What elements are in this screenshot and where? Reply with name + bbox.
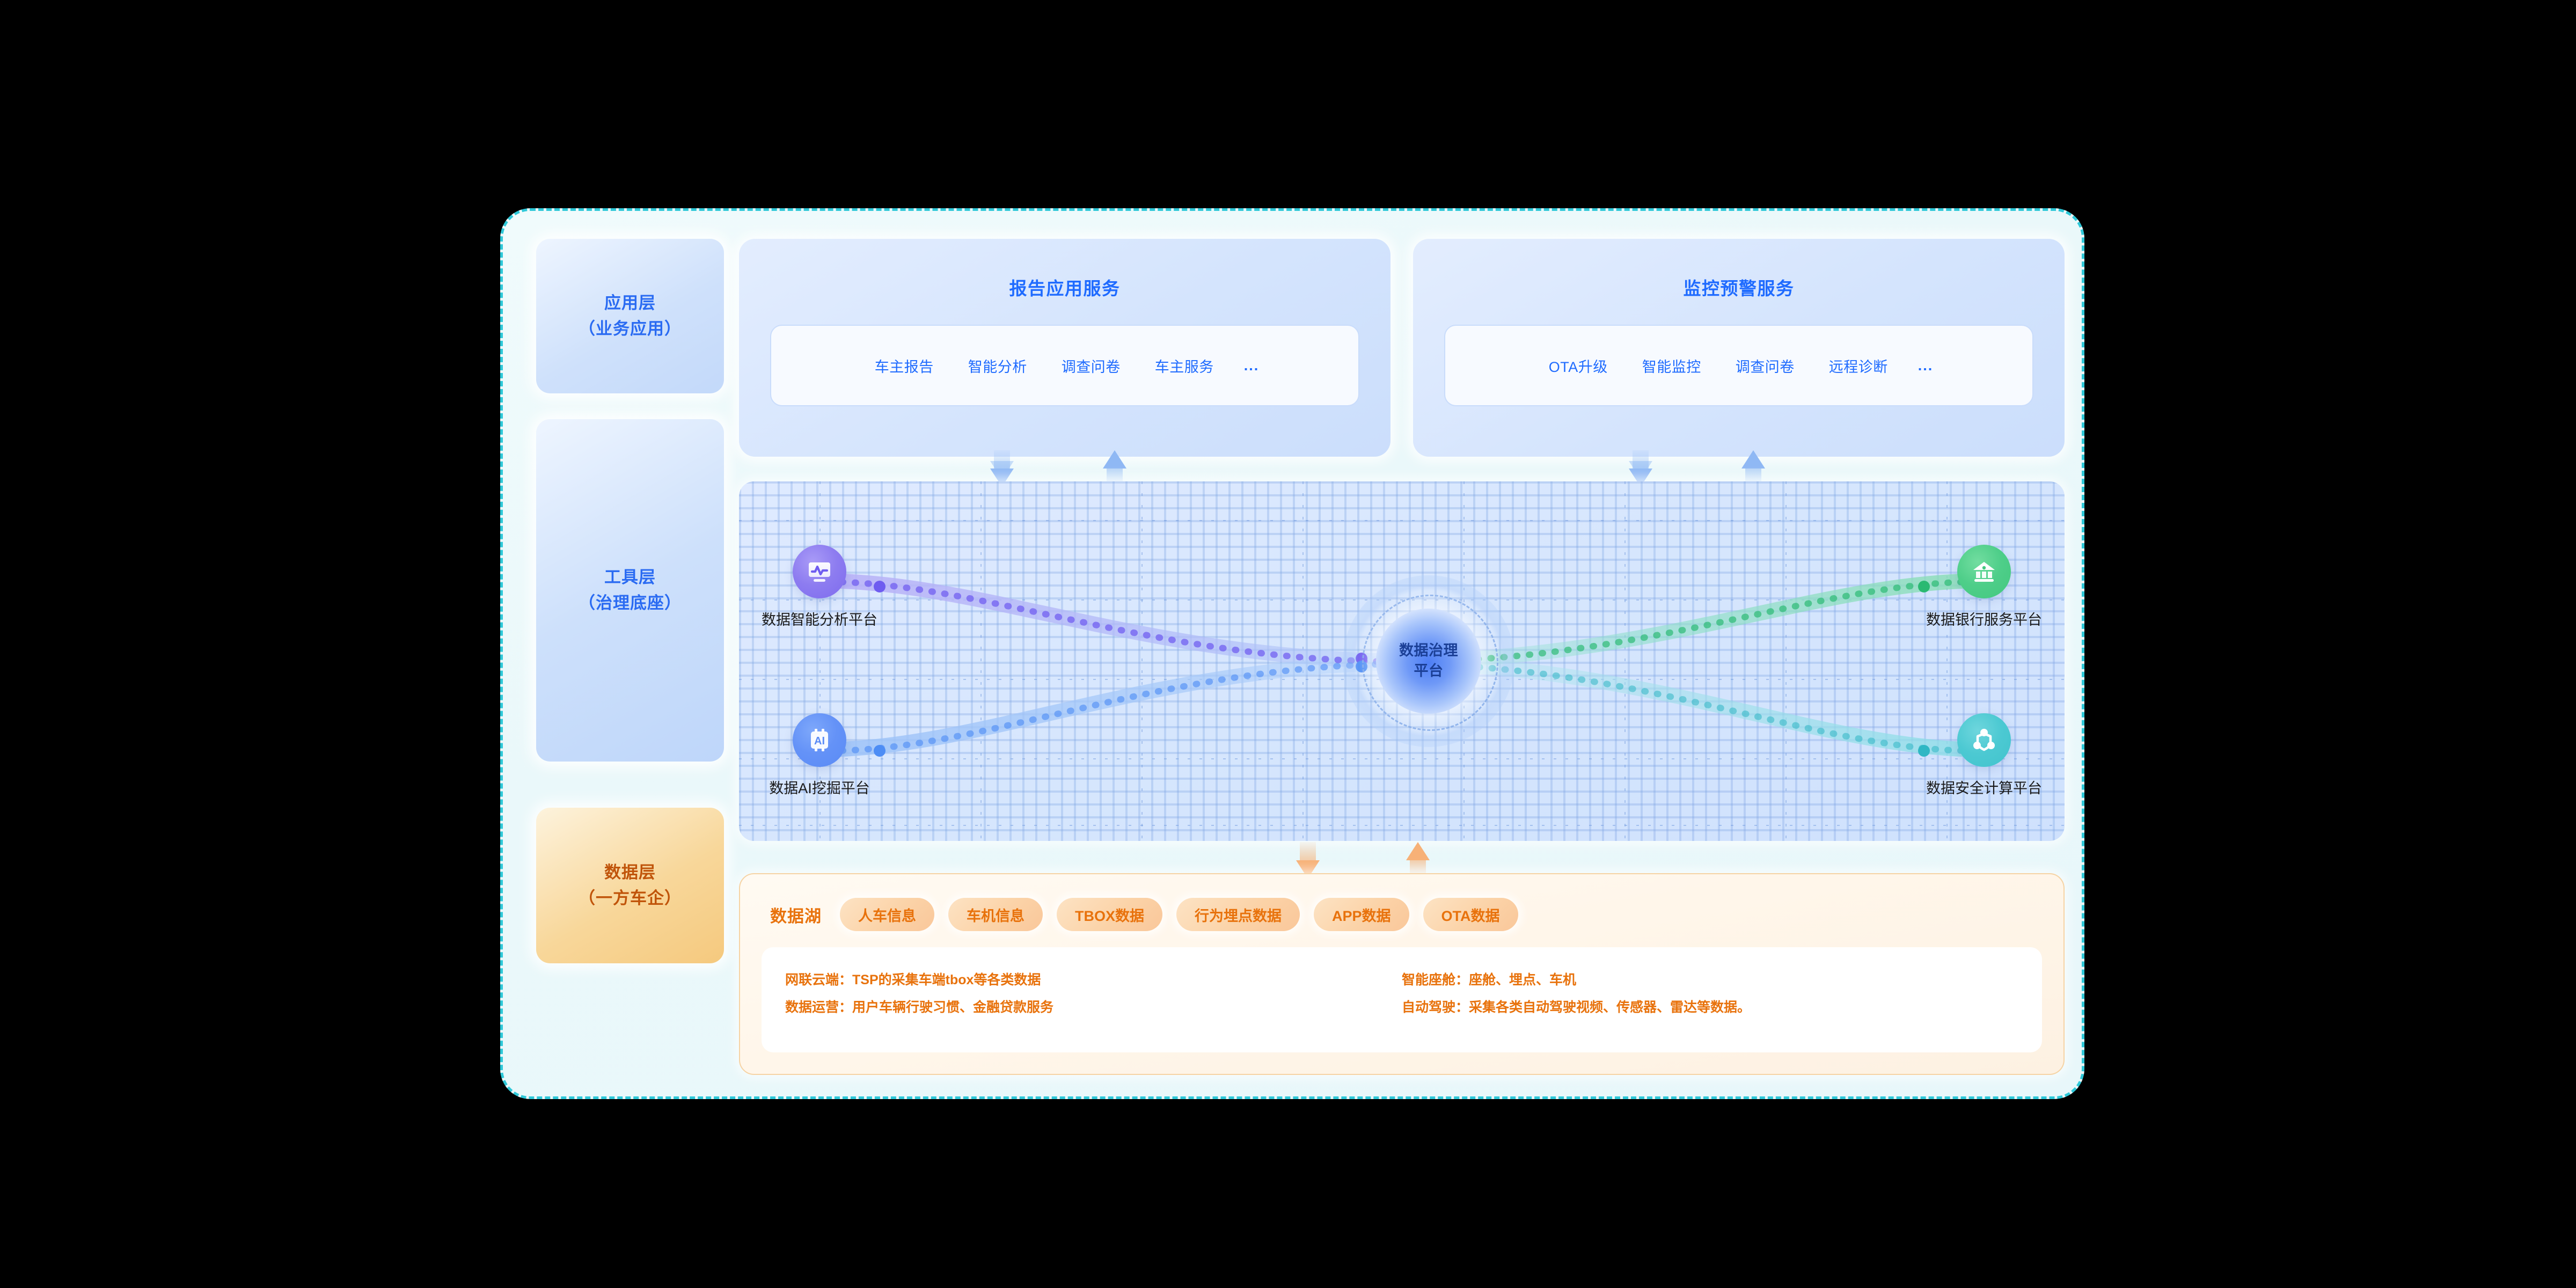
service-chip[interactable]: 智能分析: [951, 355, 1044, 376]
node-label: 数据安全计算平台: [1914, 777, 2054, 797]
service-chip[interactable]: 调查问卷: [1718, 355, 1812, 376]
layer-app-subtitle: （业务应用）: [579, 316, 682, 342]
application-services-row: 报告应用服务 车主报告 智能分析 调查问卷 车主服务 ... 监控预警服务 OT…: [739, 239, 2065, 457]
data-lake-description: 网联云端：TSP的采集车端tbox等各类数据 数据运营：用户车辆行驶习惯、金融贷…: [762, 947, 2042, 1052]
service-chip-more[interactable]: ...: [1231, 357, 1272, 374]
node-data-analysis-platform[interactable]: 数据智能分析平台: [750, 545, 889, 629]
data-lake-tag[interactable]: 车机信息: [948, 898, 1043, 931]
node-icon-wrapper: [793, 545, 846, 598]
layer-tool-subtitle: （治理底座）: [579, 590, 682, 616]
data-lake-tag[interactable]: OTA数据: [1423, 898, 1518, 931]
hub-label-line1: 数据治理: [1399, 642, 1458, 658]
layer-data-subtitle: （一方车企）: [579, 885, 682, 911]
node-label: 数据AI挖掘平台: [750, 777, 889, 797]
node-label: 数据银行服务平台: [1914, 608, 2054, 629]
hub-label-line2: 平台: [1414, 663, 1444, 679]
data-lake-right-column: 智能座舱：座舱、埋点、车机 自动驾驶：采集各类自动驾驶视频、传感器、雷达等数据。: [1402, 967, 2018, 1033]
data-lake-line: 智能座舱：座舱、埋点、车机: [1402, 967, 2018, 994]
diagram-content: 报告应用服务 车主报告 智能分析 调查问卷 车主服务 ... 监控预警服务 OT…: [739, 239, 2065, 1075]
monitor-wave-icon: [804, 557, 835, 587]
arrow-stem: [1633, 450, 1649, 469]
layer-card-application[interactable]: 应用层 （业务应用）: [536, 239, 724, 393]
data-lake-header: 数据湖 人车信息 车机信息 TBOX数据 行为埋点数据 APP数据 OTA数据: [770, 898, 1518, 931]
node-icon-wrapper: AI: [793, 713, 846, 767]
svg-text:AI: AI: [814, 735, 825, 747]
hub-core: 数据治理 平台: [1376, 609, 1481, 714]
arrow-stem: [994, 450, 1010, 469]
data-lake-tag[interactable]: 行为埋点数据: [1176, 898, 1300, 931]
service-chip[interactable]: 车主服务: [1138, 355, 1231, 376]
node-data-security-platform[interactable]: 数据安全计算平台: [1914, 713, 2054, 797]
data-lake-left-column: 网联云端：TSP的采集车端tbox等各类数据 数据运营：用户车辆行驶习惯、金融贷…: [785, 967, 1402, 1033]
data-governance-hub[interactable]: 数据治理 平台: [1343, 575, 1514, 747]
layer-tool-title: 工具层: [604, 565, 656, 590]
data-lake-line: 数据运营：用户车辆行驶习惯、金融贷款服务: [785, 994, 1402, 1021]
service-chip[interactable]: OTA升级: [1532, 355, 1625, 376]
data-lake-title: 数据湖: [770, 903, 822, 927]
data-lake-line: 网联云端：TSP的采集车端tbox等各类数据: [785, 967, 1402, 994]
service-card-monitoring-chipbar: OTA升级 智能监控 调查问卷 远程诊断 ...: [1444, 325, 2033, 406]
tool-layer-panel: 数据治理 平台: [739, 481, 2065, 841]
node-label: 数据智能分析平台: [750, 608, 889, 629]
layer-card-tool[interactable]: 工具层 （治理底座）: [536, 419, 724, 762]
arrow-up-icon: [1741, 450, 1765, 469]
service-chip[interactable]: 智能监控: [1625, 355, 1718, 376]
ai-chip-icon: AI: [804, 725, 835, 755]
layer-rail: 应用层 （业务应用） 工具层 （治理底座） 数据层 （一方车企）: [524, 239, 722, 1075]
diagram-stage: 应用层 （业务应用） 工具层 （治理底座） 数据层 （一方车企） 报告应用服务 …: [500, 208, 2084, 1099]
data-lake-line: 自动驾驶：采集各类自动驾驶视频、传感器、雷达等数据。: [1402, 994, 2018, 1021]
service-chip[interactable]: 远程诊断: [1812, 355, 1905, 376]
arrow-stem: [1300, 842, 1316, 860]
service-card-report[interactable]: 报告应用服务 车主报告 智能分析 调查问卷 车主服务 ...: [739, 239, 1391, 457]
layer-data-title: 数据层: [604, 860, 656, 885]
bank-building-icon: [1969, 557, 1999, 587]
layer-card-data[interactable]: 数据层 （一方车企）: [536, 808, 724, 963]
service-card-report-title: 报告应用服务: [1009, 274, 1121, 300]
node-data-bank-platform[interactable]: 数据银行服务平台: [1914, 545, 2054, 629]
data-lake-tag[interactable]: 人车信息: [840, 898, 934, 931]
arrow-up-icon: [1103, 450, 1126, 469]
hub-label: 数据治理 平台: [1399, 641, 1458, 682]
data-lake-tag[interactable]: APP数据: [1314, 898, 1409, 931]
node-data-ai-platform[interactable]: AI 数据AI挖掘平台: [750, 713, 889, 797]
data-lake-tag[interactable]: TBOX数据: [1057, 898, 1162, 931]
shield-network-icon: [1969, 725, 1999, 755]
node-icon-wrapper: [1957, 545, 2011, 598]
service-card-report-chipbar: 车主报告 智能分析 调查问卷 车主服务 ...: [770, 325, 1359, 406]
service-card-monitoring-title: 监控预警服务: [1684, 274, 1795, 300]
arrow-up-icon: [1406, 842, 1430, 860]
data-lake-section: 数据湖 人车信息 车机信息 TBOX数据 行为埋点数据 APP数据 OTA数据 …: [739, 873, 2065, 1075]
node-icon-wrapper: [1957, 713, 2011, 767]
service-card-monitoring[interactable]: 监控预警服务 OTA升级 智能监控 调查问卷 远程诊断 ...: [1413, 239, 2065, 457]
service-chip[interactable]: 调查问卷: [1044, 355, 1138, 376]
service-chip-more[interactable]: ...: [1905, 357, 1946, 374]
layer-app-title: 应用层: [604, 290, 656, 316]
service-chip[interactable]: 车主报告: [858, 355, 951, 376]
